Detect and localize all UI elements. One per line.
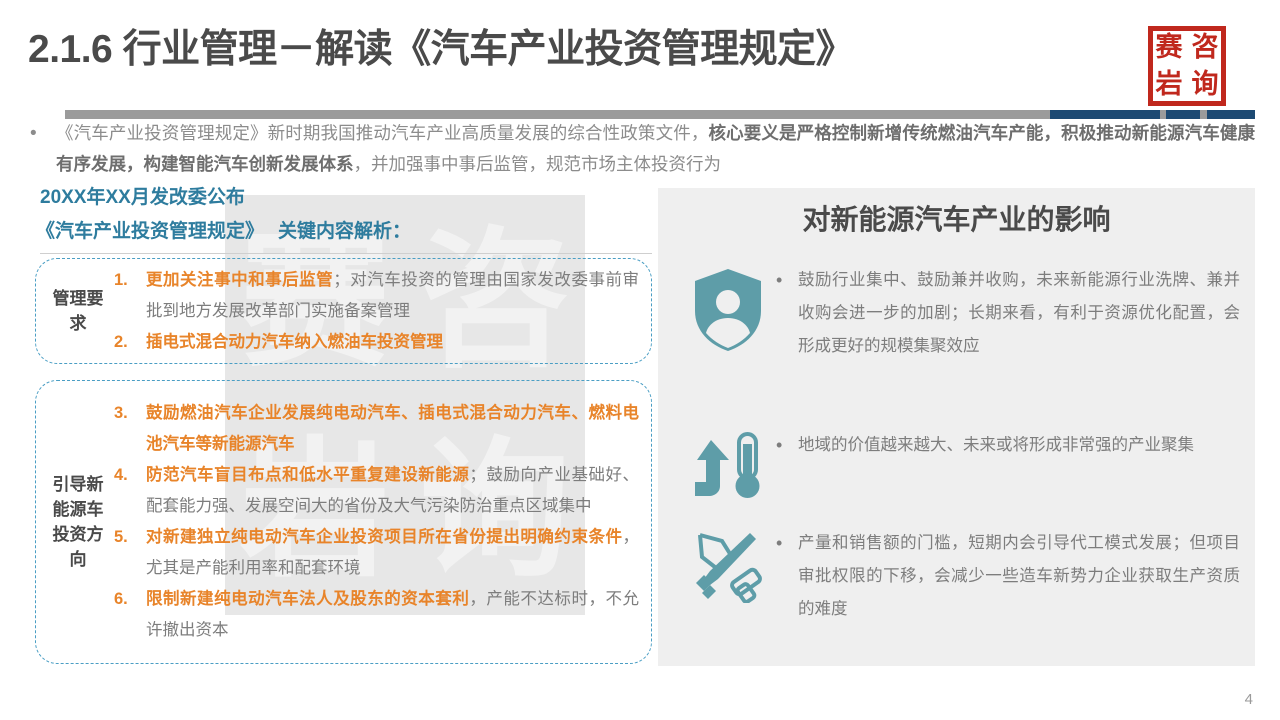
seal-char-1: 赛 [1156,34,1183,61]
item-bold-text: 插电式混合动力汽车纳入燃油车投资管理 [146,333,443,351]
shield-person-icon [680,262,776,358]
impact-row-1: • 鼓励行业集中、鼓励兼并收购，未来新能源行业洗牌、兼并收购会进一步的加剧；长期… [680,262,1240,363]
box-body-management: 1.更加关注事中和事后监管；对汽车投资的管理由国家发改委事前审批到地方发展改革部… [108,265,651,358]
item-bold-text: 限制新建纯电动汽车法人及股东的资本套利 [146,590,469,608]
intro-text: 《汽车产业投资管理规定》新时期我国推动汽车产业高质量发展的综合性政策文件，核心要… [56,118,1255,180]
left-subtitle-analysis-label: 关键内容解析： [278,221,411,242]
seal-char-4: 询 [1192,71,1219,98]
impact-text-3: 产量和销售额的门槛，短期内会引导代工模式发展；但项目审批权限的下移，会减少一些造… [798,527,1240,626]
item-number: 1. [114,265,128,296]
intro-part-1: 《汽车产业投资管理规定》新时期我国推动汽车产业高质量发展的综合性政策文件， [56,123,708,143]
page-title: 2.1.6 行业管理－解读《汽车产业投资管理规定》 [28,18,854,74]
intro-paragraph: • 《汽车产业投资管理规定》新时期我国推动汽车产业高质量发展的综合性政策文件，核… [30,118,1255,180]
item-number: 4. [114,460,128,491]
seal-char-2: 咨 [1192,34,1219,61]
management-items-list: 1.更加关注事中和事后监管；对汽车投资的管理由国家发改委事前审批到地方发展改革部… [112,265,639,358]
impact-panel-title: 对新能源汽车产业的影响 [658,198,1255,238]
list-item: 5.对新建独立纯电动汽车企业投资项目所在省份提出明确约束条件，尤其是产能利用率和… [112,522,639,584]
item-number: 2. [114,327,128,358]
intro-part-2: ，并加强事中事后监管，规范市场主体投资行为 [354,154,722,174]
impact-text-wrap-1: • 鼓励行业集中、鼓励兼并收购，未来新能源行业洗牌、兼并收购会进一步的加剧；长期… [776,262,1240,363]
seal-characters: 赛 咨 岩 询 [1151,29,1223,103]
item-number: 3. [114,398,128,429]
management-requirements-box: 管理要求 1.更加关注事中和事后监管；对汽车投资的管理由国家发改委事前审批到地方… [35,258,652,364]
list-item: 2.插电式混合动力汽车纳入燃油车投资管理 [112,327,639,358]
box-label-direction: 引导新能源车投资方向 [48,472,108,572]
company-logo-seal: 赛 咨 岩 询 [1148,26,1226,106]
page-number: 4 [1245,691,1253,708]
list-item: 4.防范汽车盲目布点和低水平重复建设新能源；鼓励向产业基础好、配套能力强、发展空… [112,460,639,522]
slide-root: 赛 咨 岩 询 2.1.6 行业管理－解读《汽车产业投资管理规定》 赛 咨 岩 … [0,0,1280,720]
impact-row-3: • 产量和销售额的门槛，短期内会引导代工模式发展；但项目审批权限的下移，会减少一… [680,525,1240,626]
left-subtitle-doc-name: 《汽车产业投资管理规定》 [36,221,264,242]
left-subtitle-analysis: 《汽车产业投资管理规定》关键内容解析： [36,216,411,243]
sword-hammer-icon [680,525,776,605]
impact-bullet-icon-2: • [776,429,798,462]
item-bold-text: 对新建独立纯电动汽车企业投资项目所在省份提出明确约束条件 [146,528,623,546]
investment-direction-box: 引导新能源车投资方向 3.鼓励燃油汽车企业发展纯电动汽车、插电式混合动力汽车、燃… [35,380,652,664]
item-bold-text: 防范汽车盲目布点和低水平重复建设新能源 [146,466,469,484]
seal-char-3: 岩 [1156,71,1183,98]
left-subtitle-date: 20XX年XX月发改委公布 [40,182,245,209]
arrow-thermometer-icon [680,427,776,507]
box-body-direction: 3.鼓励燃油汽车企业发展纯电动汽车、插电式混合动力汽车、燃料电池汽车等新能源汽车… [108,398,651,646]
impact-bullet-icon-1: • [776,264,798,363]
impact-row-2: • 地域的价值越来越大、未来或将形成非常强的产业聚集 [680,427,1240,507]
item-bold-text: 鼓励燃油汽车企业发展纯电动汽车、插电式混合动力汽车、燃料电池汽车等新能源汽车 [146,404,639,453]
impact-bullet-icon-3: • [776,527,798,626]
list-item: 1.更加关注事中和事后监管；对汽车投资的管理由国家发改委事前审批到地方发展改革部… [112,265,639,327]
item-number: 6. [114,584,128,615]
impact-text-2: 地域的价值越来越大、未来或将形成非常强的产业聚集 [798,429,1240,462]
impact-text-wrap-2: • 地域的价值越来越大、未来或将形成非常强的产业聚集 [776,427,1240,462]
intro-bullet-icon: • [30,118,56,180]
box-label-management: 管理要求 [48,286,108,336]
direction-items-list: 3.鼓励燃油汽车企业发展纯电动汽车、插电式混合动力汽车、燃料电池汽车等新能源汽车… [112,398,639,646]
left-horizontal-rule [40,253,652,254]
impact-text-wrap-3: • 产量和销售额的门槛，短期内会引导代工模式发展；但项目审批权限的下移，会减少一… [776,525,1240,626]
impact-text-1: 鼓励行业集中、鼓励兼并收购，未来新能源行业洗牌、兼并收购会进一步的加剧；长期来看… [798,264,1240,363]
item-bold-text: 更加关注事中和事后监管 [146,271,333,289]
list-item: 6.限制新建纯电动汽车法人及股东的资本套利，产能不达标时，不允许撤出资本 [112,584,639,646]
item-number: 5. [114,522,128,553]
list-item: 3.鼓励燃油汽车企业发展纯电动汽车、插电式混合动力汽车、燃料电池汽车等新能源汽车 [112,398,639,460]
